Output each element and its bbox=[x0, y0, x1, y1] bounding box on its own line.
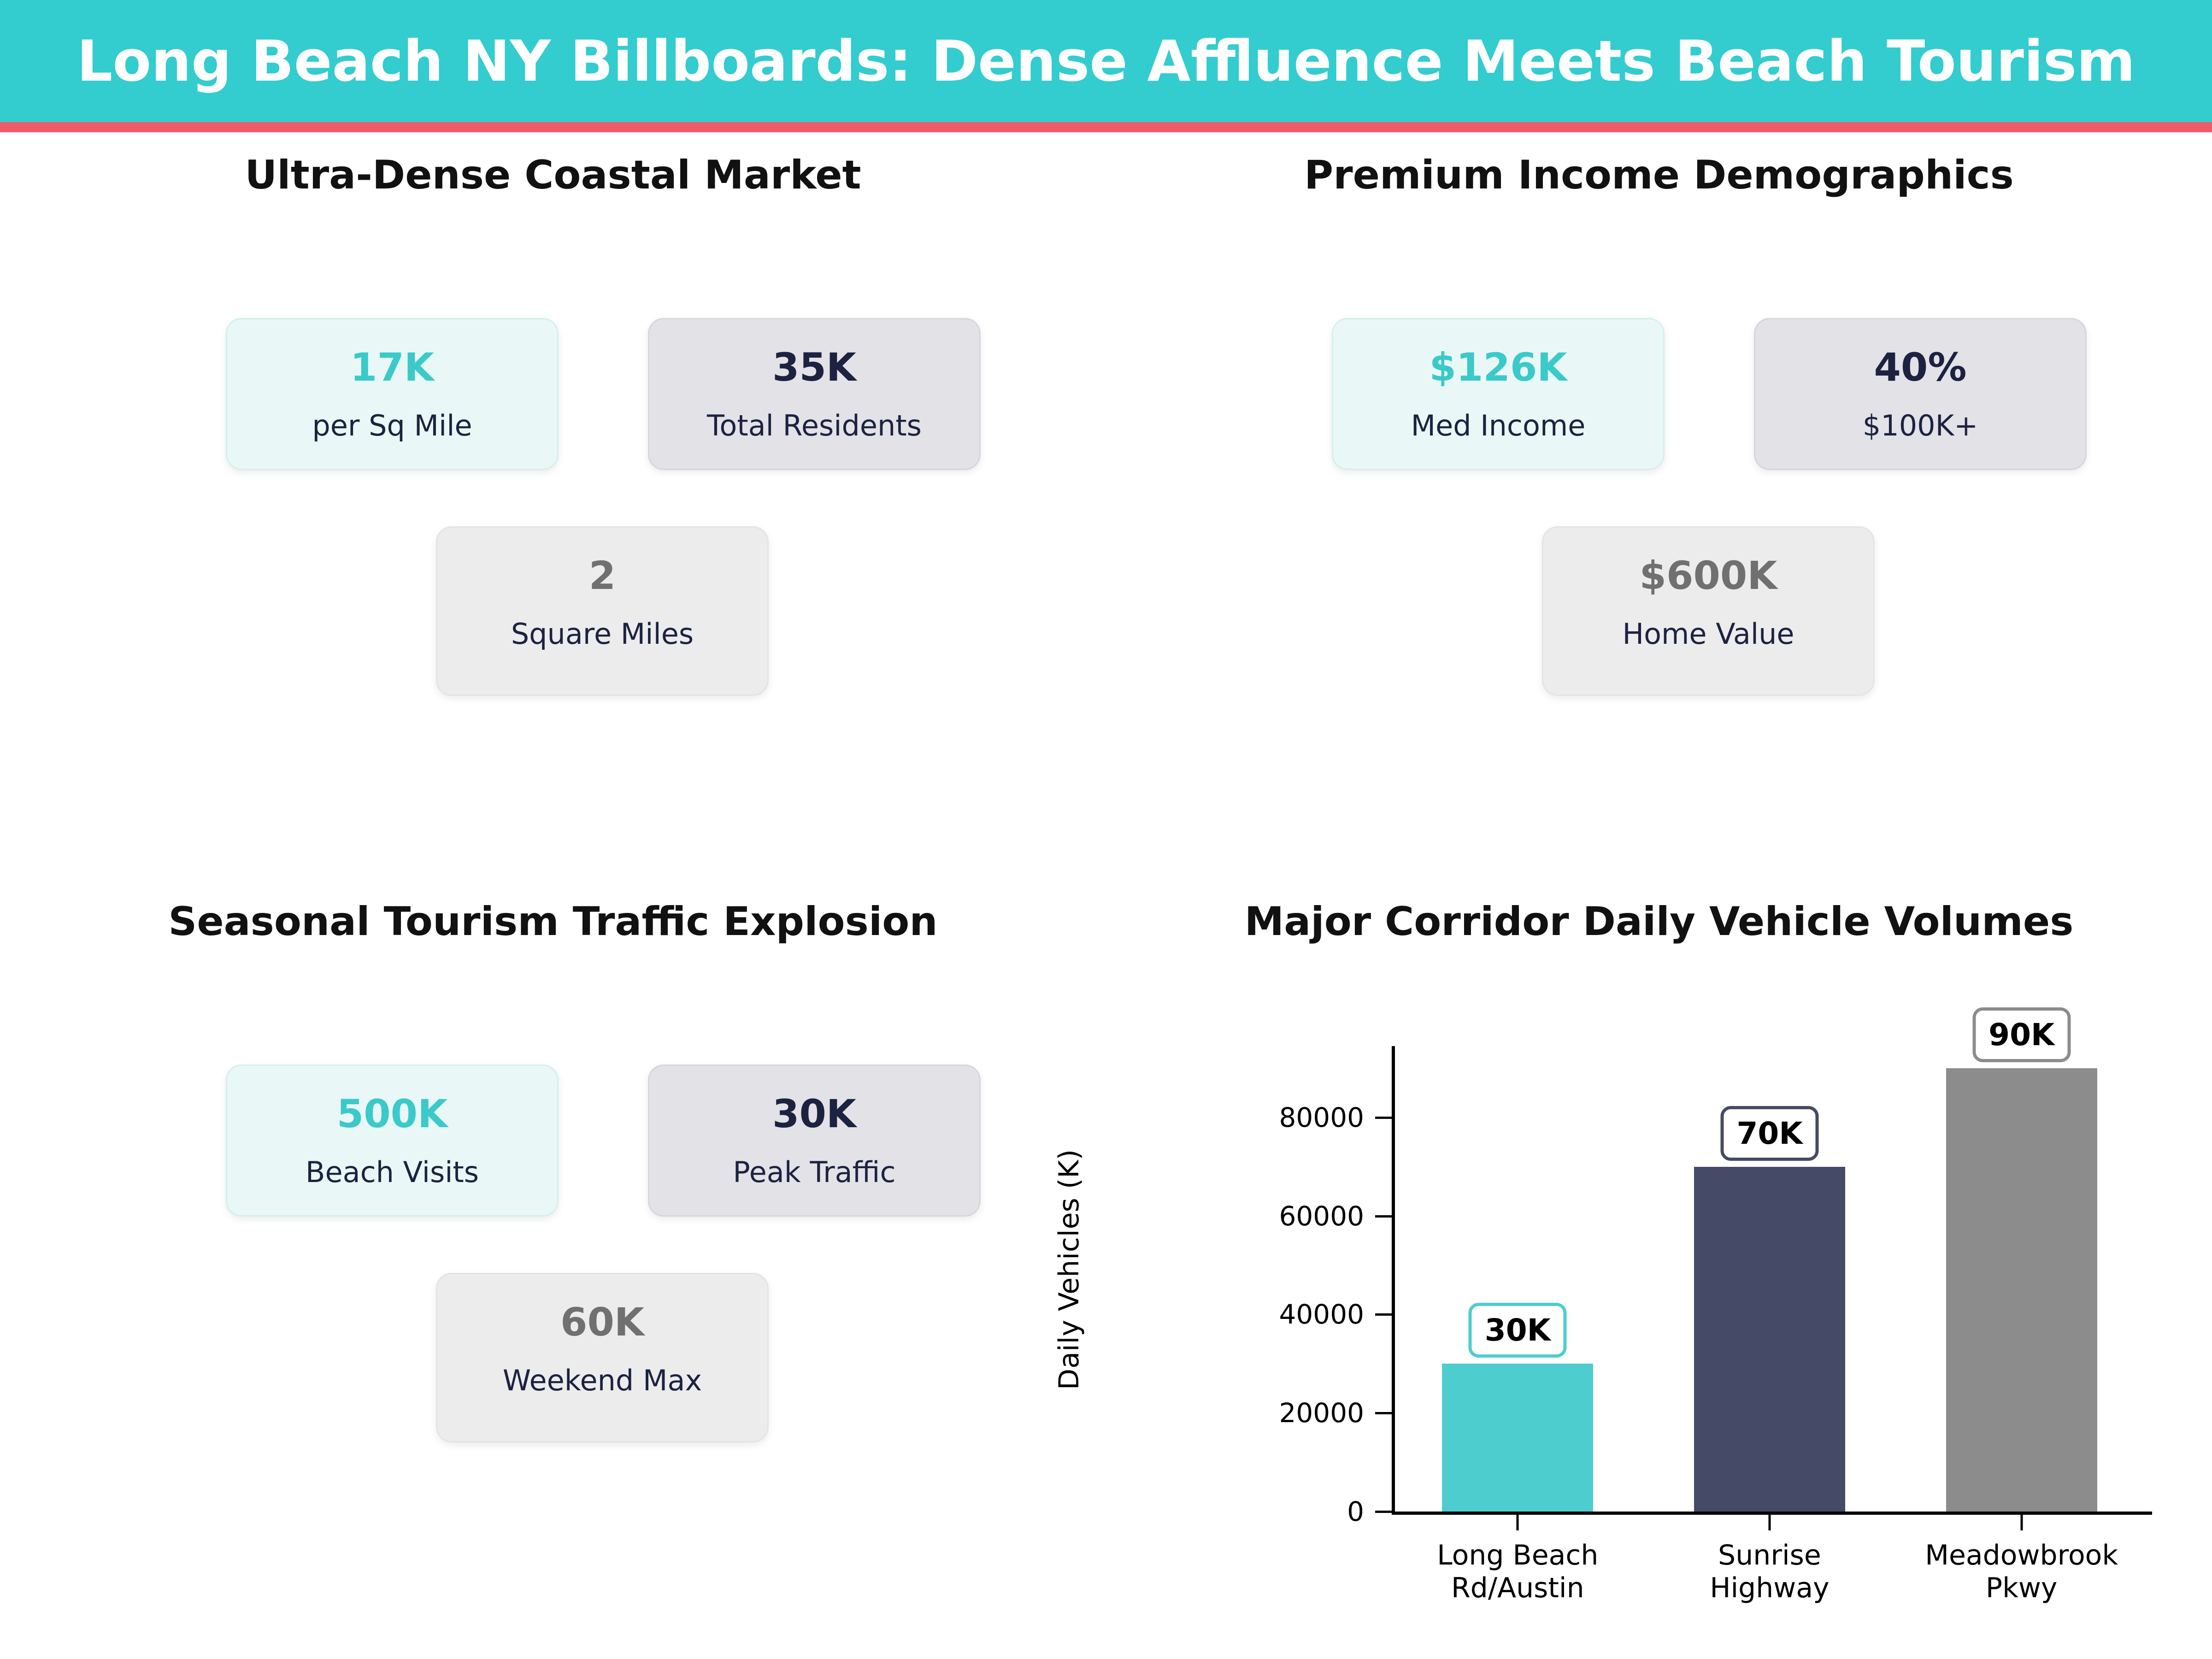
stat-value: 2 bbox=[589, 556, 616, 595]
stat-label: Home Value bbox=[1622, 620, 1794, 648]
stat-label: Beach Visits bbox=[306, 1158, 479, 1187]
stat-value: 500K bbox=[337, 1094, 447, 1133]
stat-value: 30K bbox=[772, 1094, 856, 1133]
stat-value: $600K bbox=[1640, 556, 1777, 595]
y-axis-tick bbox=[1375, 1313, 1392, 1316]
bar-chart: Daily Vehicles (K) 020000400006000080000… bbox=[1180, 1037, 2194, 1604]
x-axis-tick bbox=[1769, 1515, 1771, 1530]
stat-card-100k-plus: 40% $100K+ bbox=[1754, 318, 2087, 470]
bar-value-label: 90K bbox=[1972, 1007, 2071, 1062]
stat-label: Peak Traffic bbox=[733, 1158, 895, 1187]
y-axis-tick-label: 40000 bbox=[1180, 1299, 1364, 1330]
bar bbox=[1946, 1068, 2097, 1512]
stat-label: per Sq Mile bbox=[312, 412, 472, 440]
stat-label: Med Income bbox=[1411, 412, 1586, 440]
bar bbox=[1442, 1364, 1593, 1512]
stat-value: 35K bbox=[772, 348, 856, 387]
panel-title-income: Premium Income Demographics bbox=[1106, 152, 2212, 198]
stat-card-per-sq-mile: 17K per Sq Mile bbox=[226, 318, 559, 470]
x-axis-tick-label: Sunrise Highway bbox=[1710, 1539, 1829, 1605]
y-axis-tick-label: 80000 bbox=[1180, 1102, 1364, 1133]
stat-label: Square Miles bbox=[511, 620, 694, 648]
stat-label: Weekend Max bbox=[503, 1366, 702, 1395]
y-axis-tick-label: 20000 bbox=[1180, 1397, 1364, 1429]
y-axis-tick bbox=[1375, 1511, 1392, 1513]
stat-label: $100K+ bbox=[1863, 412, 1978, 440]
x-axis-tick-label: Meadowbrook Pkwy bbox=[1925, 1539, 2118, 1605]
stat-card-weekend-max: 60K Weekend Max bbox=[436, 1273, 769, 1442]
page-title: Long Beach NY Billboards: Dense Affluenc… bbox=[77, 29, 2136, 94]
y-axis-title: Daily Vehicles (K) bbox=[1053, 1149, 1085, 1390]
x-axis-tick-label: Long Beach Rd/Austin bbox=[1437, 1539, 1598, 1605]
header-band: Long Beach NY Billboards: Dense Affluenc… bbox=[0, 0, 2212, 122]
y-axis-tick-label: 60000 bbox=[1180, 1200, 1364, 1232]
stat-value: 17K bbox=[350, 348, 434, 387]
stat-card-home-value: $600K Home Value bbox=[1542, 526, 1875, 696]
y-axis-tick bbox=[1375, 1117, 1392, 1119]
panel-title-corridors: Major Corridor Daily Vehicle Volumes bbox=[1106, 899, 2212, 945]
y-axis-tick-label: 0 bbox=[1180, 1496, 1364, 1527]
x-axis-line bbox=[1392, 1512, 2152, 1515]
header-accent-rule bbox=[0, 122, 2212, 132]
bar bbox=[1694, 1167, 1845, 1512]
stat-value: $126K bbox=[1430, 348, 1567, 387]
panel-major-corridor-daily-vehicle-volumes: Major Corridor Daily Vehicle Volumes Dai… bbox=[1106, 899, 2212, 1608]
panel-premium-income-demographics: Premium Income Demographics $126K Med In… bbox=[1106, 152, 2212, 797]
stat-card-med-income: $126K Med Income bbox=[1332, 318, 1665, 470]
bar-value-label: 30K bbox=[1469, 1303, 1567, 1358]
stat-label: Total Residents bbox=[707, 412, 922, 440]
panel-title-market: Ultra-Dense Coastal Market bbox=[0, 152, 1106, 198]
stat-card-total-residents: 35K Total Residents bbox=[648, 318, 981, 470]
stat-value: 40% bbox=[1874, 348, 1966, 387]
y-axis-tick bbox=[1375, 1412, 1392, 1414]
panel-title-tourism: Seasonal Tourism Traffic Explosion bbox=[0, 899, 1106, 945]
stat-value: 60K bbox=[560, 1303, 644, 1341]
stat-card-beach-visits: 500K Beach Visits bbox=[226, 1065, 559, 1217]
stat-card-square-miles: 2 Square Miles bbox=[436, 526, 769, 696]
panel-ultra-dense-coastal-market: Ultra-Dense Coastal Market 17K per Sq Mi… bbox=[0, 152, 1106, 797]
panel-seasonal-tourism-traffic-explosion: Seasonal Tourism Traffic Explosion 500K … bbox=[0, 899, 1106, 1544]
stat-card-peak-traffic: 30K Peak Traffic bbox=[648, 1065, 981, 1217]
y-axis-tick bbox=[1375, 1215, 1392, 1218]
bar-value-label: 70K bbox=[1721, 1106, 1819, 1161]
x-axis-tick bbox=[2020, 1515, 2023, 1530]
x-axis-tick bbox=[1517, 1515, 1519, 1530]
